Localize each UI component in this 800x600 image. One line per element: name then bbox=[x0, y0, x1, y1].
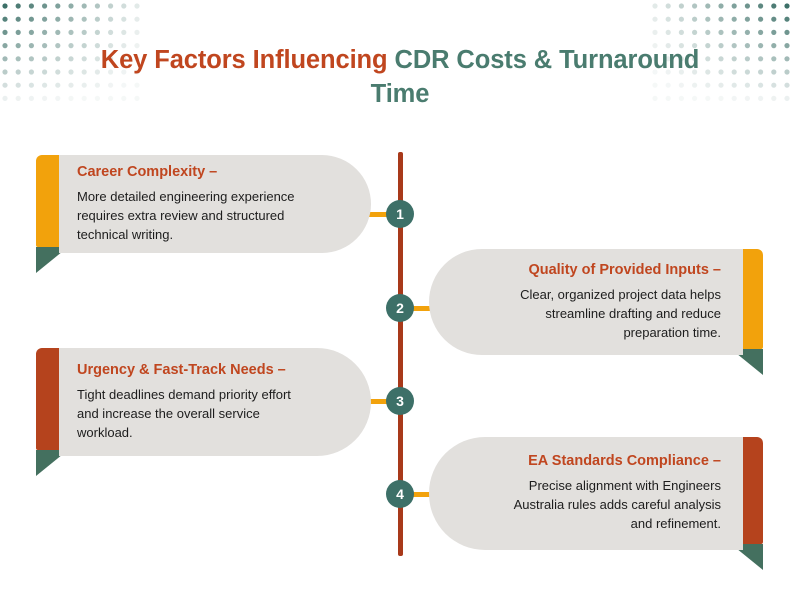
factor-card-heading: Quality of Provided Inputs – bbox=[491, 262, 721, 279]
page-title-part-2: CDR Costs & Turnaround Time bbox=[371, 46, 700, 108]
timeline-node-4: 4 bbox=[386, 480, 414, 508]
factor-card-4: EA Standards Compliance –Precise alignme… bbox=[429, 437, 743, 550]
factor-card-body: Tight deadlines demand priority effort a… bbox=[77, 386, 305, 443]
page-title-part-1: Key Factors Influencing bbox=[101, 46, 395, 74]
factor-card-3: Urgency & Fast-Track Needs –Tight deadli… bbox=[59, 348, 371, 456]
factor-card-heading: EA Standards Compliance – bbox=[491, 453, 721, 470]
infographic-canvas: Key Factors Influencing CDR Costs & Turn… bbox=[0, 0, 800, 600]
factor-card-body: More detailed engineering experience req… bbox=[77, 188, 305, 245]
timeline-node-number: 1 bbox=[396, 206, 404, 222]
timeline-node-number: 2 bbox=[396, 300, 404, 316]
page-title: Key Factors Influencing CDR Costs & Turn… bbox=[100, 44, 700, 111]
timeline-node-number: 3 bbox=[396, 393, 404, 409]
factor-card-body: Precise alignment with Engineers Austral… bbox=[491, 477, 721, 534]
timeline-node-2: 2 bbox=[386, 294, 414, 322]
factor-card-2: Quality of Provided Inputs –Clear, organ… bbox=[429, 249, 743, 355]
timeline-node-number: 4 bbox=[396, 486, 404, 502]
factor-card-heading: Urgency & Fast-Track Needs – bbox=[77, 362, 305, 379]
factor-card-heading: Career Complexity – bbox=[77, 164, 305, 181]
factor-card-body: Clear, organized project data helps stre… bbox=[491, 286, 721, 343]
timeline-node-1: 1 bbox=[386, 200, 414, 228]
timeline-node-3: 3 bbox=[386, 387, 414, 415]
factor-card-1: Career Complexity –More detailed enginee… bbox=[59, 155, 371, 253]
